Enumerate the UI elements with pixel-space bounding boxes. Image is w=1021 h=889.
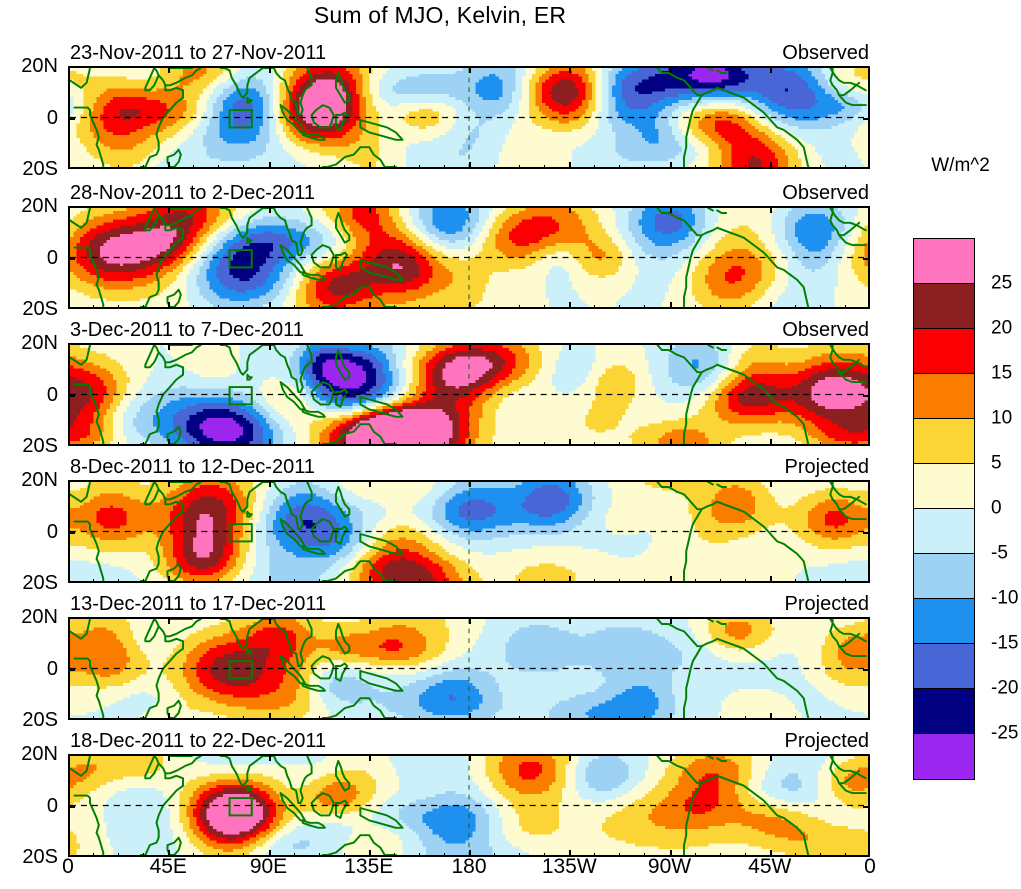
panel-date-range: 13-Dec-2011 to 17-Dec-2011 bbox=[70, 593, 326, 616]
x-axis-tick-top bbox=[770, 343, 772, 350]
x-axis-tick-top bbox=[868, 754, 870, 761]
x-axis-tick-top bbox=[369, 617, 371, 624]
x-axis-tick-label: 0 bbox=[62, 855, 74, 879]
x-axis-tick-label: 90E bbox=[250, 855, 287, 879]
y-axis-tick-label: 0 bbox=[0, 108, 58, 128]
x-axis-minor-tick bbox=[695, 716, 696, 720]
x-axis-tick-top bbox=[369, 343, 371, 350]
map-plot-area bbox=[68, 754, 870, 857]
panel-status-badge: Observed bbox=[782, 319, 869, 342]
y-axis-tick bbox=[68, 395, 75, 397]
map-plot-area bbox=[68, 343, 870, 446]
x-axis-minor-tick bbox=[93, 579, 94, 583]
map-plot-area bbox=[68, 206, 870, 309]
x-axis-minor-tick bbox=[820, 442, 821, 446]
x-axis-tick-top bbox=[168, 617, 170, 624]
y-axis-tick-label: 0 bbox=[0, 248, 58, 268]
x-axis-minor-tick bbox=[118, 579, 119, 583]
y-axis-tick bbox=[68, 118, 75, 120]
x-axis-minor-tick bbox=[168, 305, 169, 309]
colorbar-band bbox=[914, 689, 974, 734]
colorbar-tick-label: -25 bbox=[991, 724, 1018, 743]
page-title: Sum of MJO, Kelvin, ER bbox=[0, 2, 880, 29]
x-axis-minor-tick bbox=[745, 716, 746, 720]
x-axis-minor-tick bbox=[845, 579, 846, 583]
x-axis-tick-top bbox=[770, 617, 772, 624]
x-axis-minor-tick bbox=[394, 579, 395, 583]
x-axis-tick-top bbox=[469, 206, 471, 213]
x-axis-tick-top bbox=[168, 206, 170, 213]
x-axis-minor-tick bbox=[720, 716, 721, 720]
x-axis-minor-tick bbox=[294, 716, 295, 720]
x-axis-minor-tick bbox=[619, 442, 620, 446]
x-axis-minor-tick bbox=[218, 165, 219, 169]
x-axis-minor-tick bbox=[218, 716, 219, 720]
x-axis-minor-tick bbox=[820, 716, 821, 720]
y-axis-tick bbox=[68, 806, 75, 808]
x-axis-minor-tick bbox=[68, 442, 69, 446]
x-axis-minor-tick bbox=[619, 579, 620, 583]
x-axis-minor-tick bbox=[644, 305, 645, 309]
panel-status-badge: Observed bbox=[782, 42, 869, 65]
x-axis-tick-top bbox=[670, 480, 672, 487]
x-axis-minor-tick bbox=[369, 716, 370, 720]
panel-date-range: 18-Dec-2011 to 22-Dec-2011 bbox=[70, 730, 326, 753]
x-axis-tick-top bbox=[369, 206, 371, 213]
colorbar-band bbox=[914, 734, 974, 779]
x-axis-minor-tick bbox=[745, 442, 746, 446]
x-axis-tick-top bbox=[68, 617, 70, 624]
x-axis-minor-tick bbox=[594, 579, 595, 583]
x-axis-minor-tick bbox=[118, 442, 119, 446]
x-axis-minor-tick bbox=[118, 165, 119, 169]
x-axis-tick-label: 135W bbox=[542, 855, 597, 879]
x-axis-minor-tick bbox=[68, 305, 69, 309]
x-axis-tick-top bbox=[369, 480, 371, 487]
x-axis-minor-tick bbox=[444, 716, 445, 720]
x-axis-minor-tick bbox=[143, 716, 144, 720]
y-axis-tick-label: 20S bbox=[0, 436, 58, 456]
y-axis-tick-label: 20S bbox=[0, 710, 58, 730]
x-axis-tick-top bbox=[68, 754, 70, 761]
x-axis-minor-tick bbox=[720, 165, 721, 169]
colorbar-band bbox=[914, 419, 974, 464]
x-axis-tick-top bbox=[68, 66, 70, 73]
x-axis-minor-tick bbox=[93, 305, 94, 309]
colorbar-tick-label: 5 bbox=[991, 454, 1002, 473]
x-axis-minor-tick bbox=[544, 165, 545, 169]
x-axis-tick-top bbox=[770, 66, 772, 73]
x-axis-minor-tick bbox=[369, 305, 370, 309]
x-axis-minor-tick bbox=[469, 579, 470, 583]
x-axis-tick-top bbox=[569, 617, 571, 624]
x-axis-minor-tick bbox=[569, 442, 570, 446]
x-axis-minor-tick bbox=[670, 165, 671, 169]
panel-header: 23-Nov-2011 to 27-Nov-2011Observed bbox=[68, 42, 870, 66]
x-axis-tick-top bbox=[68, 343, 70, 350]
x-axis-minor-tick bbox=[68, 165, 69, 169]
x-axis-minor-tick bbox=[770, 579, 771, 583]
colorbar-band bbox=[914, 644, 974, 689]
x-axis-minor-tick bbox=[519, 165, 520, 169]
colorbar-band bbox=[914, 599, 974, 644]
colorbar-band bbox=[914, 509, 974, 554]
x-axis-minor-tick bbox=[695, 165, 696, 169]
x-axis-tick-top bbox=[868, 480, 870, 487]
x-axis-minor-tick bbox=[369, 442, 370, 446]
x-axis-minor-tick bbox=[68, 716, 69, 720]
x-axis-tick-top bbox=[868, 617, 870, 624]
x-axis-minor-tick bbox=[193, 442, 194, 446]
x-axis-minor-tick bbox=[544, 305, 545, 309]
colorbar-band bbox=[914, 329, 974, 374]
x-axis-minor-tick bbox=[745, 305, 746, 309]
x-axis-minor-tick bbox=[845, 442, 846, 446]
x-axis-minor-tick bbox=[795, 305, 796, 309]
x-axis-tick-top bbox=[569, 480, 571, 487]
x-axis-minor-tick bbox=[419, 165, 420, 169]
x-axis-minor-tick bbox=[469, 716, 470, 720]
x-axis-minor-tick bbox=[243, 716, 244, 720]
x-axis-minor-tick bbox=[344, 716, 345, 720]
x-axis-tick-top bbox=[770, 206, 772, 213]
x-axis-minor-tick bbox=[494, 579, 495, 583]
y-axis-tick-label: 20N bbox=[0, 196, 58, 216]
x-axis-minor-tick bbox=[469, 165, 470, 169]
x-axis-minor-tick bbox=[218, 442, 219, 446]
x-axis-minor-tick bbox=[319, 579, 320, 583]
panel-header: 18-Dec-2011 to 22-Dec-2011Projected bbox=[68, 730, 870, 754]
x-axis-minor-tick bbox=[319, 716, 320, 720]
x-axis-tick-label: 45W bbox=[748, 855, 791, 879]
x-axis-minor-tick bbox=[670, 579, 671, 583]
x-axis-tick bbox=[868, 576, 870, 583]
x-axis-tick-top bbox=[68, 206, 70, 213]
x-axis-minor-tick bbox=[745, 165, 746, 169]
x-axis-minor-tick bbox=[569, 579, 570, 583]
panel-date-range: 8-Dec-2011 to 12-Dec-2011 bbox=[70, 456, 315, 479]
y-axis-tick bbox=[68, 669, 75, 671]
x-axis-minor-tick bbox=[619, 716, 620, 720]
x-axis-tick-top bbox=[469, 343, 471, 350]
x-axis-minor-tick bbox=[745, 579, 746, 583]
x-axis-minor-tick bbox=[720, 305, 721, 309]
x-axis-tick-top bbox=[469, 754, 471, 761]
colorbar-band bbox=[914, 374, 974, 419]
x-axis-minor-tick bbox=[519, 579, 520, 583]
x-axis-minor-tick bbox=[770, 442, 771, 446]
x-axis-tick-top bbox=[770, 480, 772, 487]
x-axis-minor-tick bbox=[193, 579, 194, 583]
x-axis-minor-tick bbox=[820, 579, 821, 583]
x-axis-minor-tick bbox=[344, 305, 345, 309]
x-axis-minor-tick bbox=[695, 442, 696, 446]
x-axis-minor-tick bbox=[670, 305, 671, 309]
x-axis-minor-tick bbox=[519, 305, 520, 309]
y-axis-tick bbox=[68, 532, 75, 534]
x-axis-minor-tick bbox=[294, 442, 295, 446]
y-axis-tick-label: 20N bbox=[0, 607, 58, 627]
contour-fill-map bbox=[70, 208, 868, 307]
x-axis-tick-top bbox=[670, 343, 672, 350]
x-axis-tick-top bbox=[68, 480, 70, 487]
x-axis-minor-tick bbox=[118, 716, 119, 720]
x-axis-minor-tick bbox=[444, 165, 445, 169]
colorbar-tick-label: 0 bbox=[991, 499, 1002, 518]
x-axis-minor-tick bbox=[569, 165, 570, 169]
panel-date-range: 23-Nov-2011 to 27-Nov-2011 bbox=[70, 42, 326, 65]
x-axis-minor-tick bbox=[168, 442, 169, 446]
x-axis-tick-top bbox=[369, 66, 371, 73]
x-axis-minor-tick bbox=[394, 165, 395, 169]
x-axis-minor-tick bbox=[770, 305, 771, 309]
x-axis-tick-top bbox=[168, 480, 170, 487]
x-axis-tick-top bbox=[868, 66, 870, 73]
x-axis-minor-tick bbox=[143, 442, 144, 446]
y-axis-tick-right bbox=[863, 258, 870, 260]
x-axis-minor-tick bbox=[118, 305, 119, 309]
x-axis-minor-tick bbox=[419, 442, 420, 446]
x-axis-tick-top bbox=[569, 754, 571, 761]
colorbar-tick-label: -20 bbox=[991, 679, 1018, 698]
x-axis-minor-tick bbox=[444, 442, 445, 446]
contour-fill-map bbox=[70, 619, 868, 718]
x-axis-minor-tick bbox=[419, 716, 420, 720]
x-axis-minor-tick bbox=[269, 305, 270, 309]
colorbar-tick-label: -15 bbox=[991, 634, 1018, 653]
x-axis-minor-tick bbox=[494, 716, 495, 720]
x-axis-minor-tick bbox=[444, 579, 445, 583]
x-axis-tick bbox=[868, 162, 870, 169]
x-axis-minor-tick bbox=[243, 579, 244, 583]
y-axis-tick-right bbox=[863, 395, 870, 397]
x-axis-minor-tick bbox=[344, 442, 345, 446]
x-axis-minor-tick bbox=[619, 165, 620, 169]
map-plot-area bbox=[68, 617, 870, 720]
x-axis-minor-tick bbox=[168, 716, 169, 720]
x-axis-minor-tick bbox=[670, 442, 671, 446]
x-axis-tick-label: 135E bbox=[344, 855, 393, 879]
x-axis-tick-top bbox=[269, 343, 271, 350]
x-axis-minor-tick bbox=[93, 442, 94, 446]
panel-header: 3-Dec-2011 to 7-Dec-2011Observed bbox=[68, 319, 870, 343]
x-axis-minor-tick bbox=[469, 442, 470, 446]
x-axis-tick-top bbox=[269, 617, 271, 624]
x-axis-minor-tick bbox=[93, 165, 94, 169]
x-axis-tick-top bbox=[269, 480, 271, 487]
x-axis-tick-top bbox=[469, 480, 471, 487]
x-axis-minor-tick bbox=[820, 305, 821, 309]
x-axis-tick-top bbox=[868, 206, 870, 213]
colorbar-band bbox=[914, 464, 974, 509]
panel-status-badge: Projected bbox=[785, 730, 870, 753]
x-axis-minor-tick bbox=[795, 716, 796, 720]
y-axis-tick-label: 20N bbox=[0, 333, 58, 353]
x-axis-tick-top bbox=[670, 66, 672, 73]
y-axis-tick-label: 20S bbox=[0, 847, 58, 867]
x-axis-minor-tick bbox=[494, 165, 495, 169]
x-axis-minor-tick bbox=[619, 305, 620, 309]
x-axis-minor-tick bbox=[269, 716, 270, 720]
x-axis-minor-tick bbox=[168, 579, 169, 583]
x-axis-minor-tick bbox=[294, 165, 295, 169]
x-axis-minor-tick bbox=[644, 165, 645, 169]
panel-status-badge: Projected bbox=[785, 593, 870, 616]
x-axis-minor-tick bbox=[695, 579, 696, 583]
x-axis-tick-top bbox=[569, 206, 571, 213]
x-axis-minor-tick bbox=[594, 716, 595, 720]
x-axis-minor-tick bbox=[243, 442, 244, 446]
y-axis-tick-right bbox=[863, 669, 870, 671]
x-axis-minor-tick bbox=[319, 305, 320, 309]
x-axis-minor-tick bbox=[845, 165, 846, 169]
x-axis-tick-top bbox=[569, 343, 571, 350]
y-axis-tick-label: 20S bbox=[0, 299, 58, 319]
x-axis-tick-top bbox=[269, 754, 271, 761]
x-axis-minor-tick bbox=[243, 305, 244, 309]
x-axis-minor-tick bbox=[394, 305, 395, 309]
x-axis-minor-tick bbox=[218, 579, 219, 583]
x-axis-minor-tick bbox=[544, 579, 545, 583]
x-axis-minor-tick bbox=[419, 305, 420, 309]
x-axis-minor-tick bbox=[544, 716, 545, 720]
x-axis-minor-tick bbox=[594, 442, 595, 446]
x-axis-minor-tick bbox=[569, 716, 570, 720]
x-axis-minor-tick bbox=[644, 442, 645, 446]
x-axis-minor-tick bbox=[494, 442, 495, 446]
x-axis-tick-top bbox=[168, 343, 170, 350]
x-axis-minor-tick bbox=[544, 442, 545, 446]
x-axis-minor-tick bbox=[519, 716, 520, 720]
y-axis-tick-label: 20S bbox=[0, 573, 58, 593]
colorbar-tick-label: 20 bbox=[991, 319, 1012, 338]
x-axis-minor-tick bbox=[344, 165, 345, 169]
panel-status-badge: Projected bbox=[785, 456, 870, 479]
x-axis-tick-top bbox=[868, 343, 870, 350]
x-axis-minor-tick bbox=[269, 579, 270, 583]
panel-date-range: 28-Nov-2011 to 2-Dec-2011 bbox=[70, 182, 315, 205]
map-plot-area bbox=[68, 66, 870, 169]
x-axis-tick-top bbox=[670, 617, 672, 624]
x-axis-minor-tick bbox=[243, 165, 244, 169]
x-axis-minor-tick bbox=[644, 716, 645, 720]
map-plot-area bbox=[68, 480, 870, 583]
panel-header: 28-Nov-2011 to 2-Dec-2011Observed bbox=[68, 182, 870, 206]
x-axis-minor-tick bbox=[419, 579, 420, 583]
x-axis-minor-tick bbox=[394, 716, 395, 720]
y-axis-tick-right bbox=[863, 118, 870, 120]
x-axis-minor-tick bbox=[369, 579, 370, 583]
x-axis-minor-tick bbox=[369, 165, 370, 169]
x-axis-minor-tick bbox=[168, 165, 169, 169]
x-axis-minor-tick bbox=[269, 165, 270, 169]
x-axis-minor-tick bbox=[294, 305, 295, 309]
panel-status-badge: Observed bbox=[782, 182, 869, 205]
x-axis-tick-label: 0 bbox=[864, 855, 876, 879]
y-axis-tick-label: 0 bbox=[0, 522, 58, 542]
x-axis-minor-tick bbox=[519, 442, 520, 446]
x-axis-minor-tick bbox=[469, 305, 470, 309]
colorbar-tick-label: 15 bbox=[991, 364, 1012, 383]
y-axis-tick-label: 20N bbox=[0, 470, 58, 490]
x-axis-tick-top bbox=[168, 754, 170, 761]
x-axis-tick bbox=[868, 302, 870, 309]
contour-fill-map bbox=[70, 68, 868, 167]
x-axis-minor-tick bbox=[845, 716, 846, 720]
panel-header: 8-Dec-2011 to 12-Dec-2011Projected bbox=[68, 456, 870, 480]
x-axis-minor-tick bbox=[294, 579, 295, 583]
x-axis-tick-top bbox=[168, 66, 170, 73]
x-axis-minor-tick bbox=[143, 165, 144, 169]
x-axis-minor-tick bbox=[143, 579, 144, 583]
x-axis-minor-tick bbox=[845, 305, 846, 309]
x-axis-minor-tick bbox=[720, 442, 721, 446]
x-axis-tick-top bbox=[469, 66, 471, 73]
colorbar-band bbox=[914, 239, 974, 284]
x-axis-minor-tick bbox=[770, 165, 771, 169]
colorbar-tick-label: 10 bbox=[991, 409, 1012, 428]
x-axis-minor-tick bbox=[319, 442, 320, 446]
x-axis-tick-top bbox=[770, 754, 772, 761]
x-axis-minor-tick bbox=[143, 305, 144, 309]
y-axis-tick-right bbox=[863, 806, 870, 808]
contour-fill-map bbox=[70, 345, 868, 444]
x-axis-tick-top bbox=[469, 617, 471, 624]
x-axis-minor-tick bbox=[644, 579, 645, 583]
x-axis-minor-tick bbox=[720, 579, 721, 583]
x-axis-tick-top bbox=[670, 206, 672, 213]
x-axis-minor-tick bbox=[594, 165, 595, 169]
x-axis-tick-label: 45E bbox=[150, 855, 187, 879]
x-axis-minor-tick bbox=[344, 579, 345, 583]
x-axis-labels: 045E90E135E180135W90W45W0 bbox=[68, 855, 870, 883]
y-axis-tick-label: 20S bbox=[0, 159, 58, 179]
y-axis-tick-label: 0 bbox=[0, 385, 58, 405]
x-axis-tick-top bbox=[269, 66, 271, 73]
contour-fill-map bbox=[70, 482, 868, 581]
colorbar-tick-label: 25 bbox=[991, 274, 1012, 293]
y-axis-tick-label: 20N bbox=[0, 744, 58, 764]
x-axis-minor-tick bbox=[193, 165, 194, 169]
x-axis-minor-tick bbox=[193, 716, 194, 720]
x-axis-tick-top bbox=[670, 754, 672, 761]
x-axis-minor-tick bbox=[269, 442, 270, 446]
x-axis-minor-tick bbox=[795, 579, 796, 583]
x-axis-tick-label: 180 bbox=[451, 855, 486, 879]
colorbar-band bbox=[914, 554, 974, 599]
colorbar-unit-label: W/m^2 bbox=[900, 155, 1021, 177]
colorbar-tick-label: -10 bbox=[991, 589, 1018, 608]
y-axis-tick-label: 0 bbox=[0, 796, 58, 816]
panel-header: 13-Dec-2011 to 17-Dec-2011Projected bbox=[68, 593, 870, 617]
x-axis-minor-tick bbox=[93, 716, 94, 720]
x-axis-minor-tick bbox=[770, 716, 771, 720]
x-axis-minor-tick bbox=[670, 716, 671, 720]
x-axis-tick-top bbox=[569, 66, 571, 73]
colorbar-tick-label: -5 bbox=[991, 544, 1008, 563]
figure-root: Sum of MJO, Kelvin, ER 23-Nov-2011 to 27… bbox=[0, 0, 1021, 889]
y-axis-tick-label: 0 bbox=[0, 659, 58, 679]
x-axis-tick-label: 90W bbox=[648, 855, 691, 879]
x-axis-minor-tick bbox=[68, 579, 69, 583]
x-axis-minor-tick bbox=[695, 305, 696, 309]
y-axis-tick-right bbox=[863, 532, 870, 534]
y-axis-tick bbox=[68, 258, 75, 260]
x-axis-minor-tick bbox=[569, 305, 570, 309]
x-axis-minor-tick bbox=[444, 305, 445, 309]
panel-date-range: 3-Dec-2011 to 7-Dec-2011 bbox=[70, 319, 304, 342]
contour-fill-map bbox=[70, 756, 868, 855]
